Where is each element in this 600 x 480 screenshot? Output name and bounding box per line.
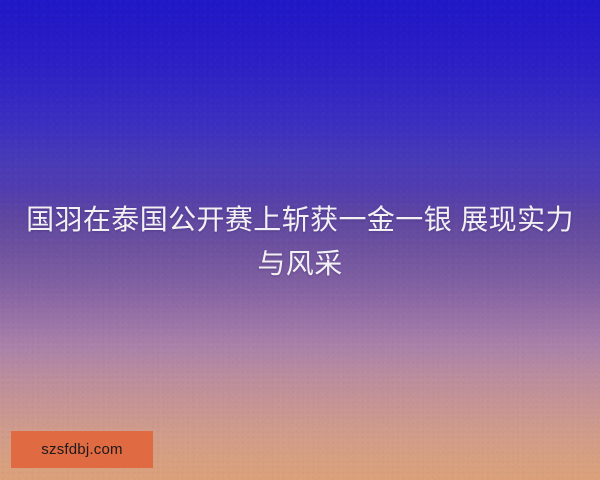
watermark-badge: szsfdbj.com (11, 431, 153, 468)
banner-image: 国羽在泰国公开赛上斩获一金一银 展现实力与风采 szsfdbj.com (0, 0, 600, 480)
watermark-label: szsfdbj.com (41, 442, 122, 457)
page-title: 国羽在泰国公开赛上斩获一金一银 展现实力与风采 (0, 198, 600, 286)
